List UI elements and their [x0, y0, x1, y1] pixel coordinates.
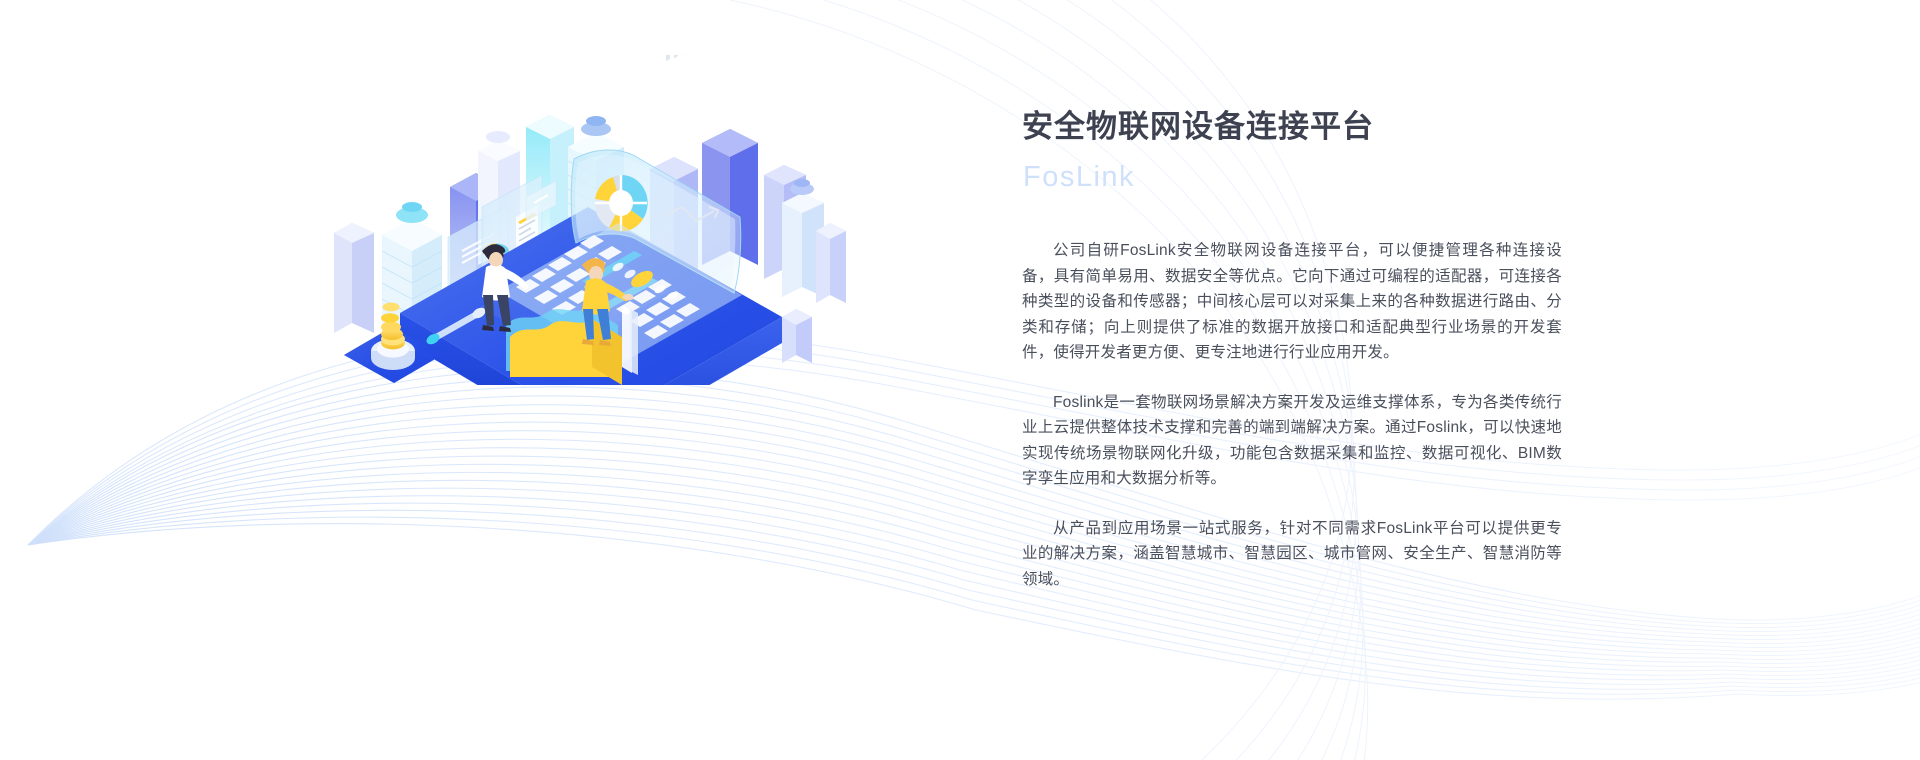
isometric-smart-city-dashboard-illustration [330, 55, 850, 385]
page-subtitle: FosLink [1023, 159, 1562, 197]
page-title: 安全物联网设备连接平台 [1022, 108, 1562, 147]
hero-section: 安全物联网设备连接平台 FosLink 公司自研FosLink安全物联网设备连接… [0, 0, 1920, 760]
background-concentric-arcs [0, 0, 1920, 760]
paragraph-3: 从产品到应用场景一站式服务，针对不同需求FosLink平台可以提供更专业的解决方… [1022, 516, 1562, 593]
body-copy: 公司自研FosLink安全物联网设备连接平台，可以便捷管理各种连接设备，具有简单… [1022, 238, 1562, 592]
paragraph-1: 公司自研FosLink安全物联网设备连接平台，可以便捷管理各种连接设备，具有简单… [1022, 238, 1562, 366]
bar-chart-widget [666, 55, 708, 61]
paragraph-2: Foslink是一套物联网场景解决方案开发及运维支撑体系，专为各类传统行业上云提… [1022, 390, 1562, 492]
background-wave-ribbon [0, 0, 1920, 760]
hero-text-column: 安全物联网设备连接平台 FosLink 公司自研FosLink安全物联网设备连接… [1022, 108, 1562, 592]
